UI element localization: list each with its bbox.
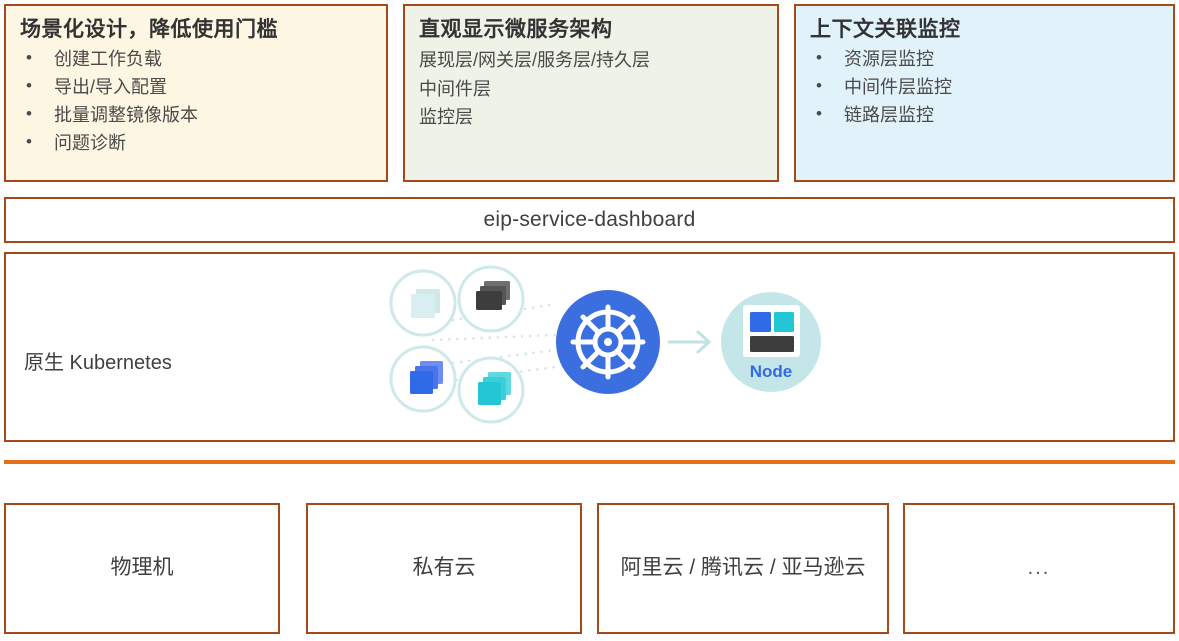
card-title: 上下文关联监控 [810,16,1159,44]
infra-label: ... [1028,554,1051,583]
card-item-list: 展现层/网关层/服务层/持久层 中间件层 监控层 [419,46,763,131]
feature-card-monitoring: 上下文关联监控 资源层监控 中间件层监控 链路层监控 [794,4,1175,182]
list-item: 创建工作负载 [20,46,372,74]
feature-card-scenario: 场景化设计，降低使用门槛 创建工作负载 导出/导入配置 批量调整镜像版本 问题诊… [4,4,388,182]
dashboard-label: eip-service-dashboard [484,208,696,232]
card-title: 直观显示微服务架构 [419,16,763,44]
infra-box-physical-machine: 物理机 [4,503,280,634]
kubernetes-helm-icon [556,290,660,394]
layered-squares-dark-icon [459,267,523,331]
infra-label: 私有云 [413,553,476,583]
connector-line [433,335,556,340]
kubernetes-label: 原生 Kubernetes [24,346,172,375]
node-icon: Node [721,292,821,392]
kubernetes-architecture-illustration: Node [381,262,821,434]
layered-squares-light-icon [391,271,455,335]
list-item: 链路层监控 [810,102,1159,130]
arrow-right-icon [669,332,709,352]
list-item: 监控层 [419,103,763,131]
eip-service-dashboard-bar: eip-service-dashboard [4,197,1175,243]
node-label: Node [750,362,793,381]
list-item: 批量调整镜像版本 [20,102,372,130]
card-title: 场景化设计，降低使用门槛 [20,16,372,44]
list-item: 展现层/网关层/服务层/持久层 [419,46,763,74]
kubernetes-panel: 原生 Kubernetes [4,252,1175,442]
infra-label: 阿里云 / 腾讯云 / 亚马逊云 [620,553,865,583]
section-divider [4,460,1175,464]
infra-box-others: ... [903,503,1175,634]
infra-label: 物理机 [111,553,174,583]
list-item: 中间件层监控 [810,74,1159,102]
infra-box-public-cloud: 阿里云 / 腾讯云 / 亚马逊云 [597,503,889,634]
list-item: 问题诊断 [20,130,372,158]
list-item: 中间件层 [419,75,763,103]
list-item: 导出/导入配置 [20,74,372,102]
layered-squares-blue-icon [391,347,455,411]
card-item-list: 创建工作负载 导出/导入配置 批量调整镜像版本 问题诊断 [20,46,372,158]
layered-squares-cyan-icon [459,358,523,422]
infra-box-private-cloud: 私有云 [306,503,582,634]
feature-card-microservice: 直观显示微服务架构 展现层/网关层/服务层/持久层 中间件层 监控层 [403,4,779,182]
card-item-list: 资源层监控 中间件层监控 链路层监控 [810,46,1159,130]
list-item: 资源层监控 [810,46,1159,74]
